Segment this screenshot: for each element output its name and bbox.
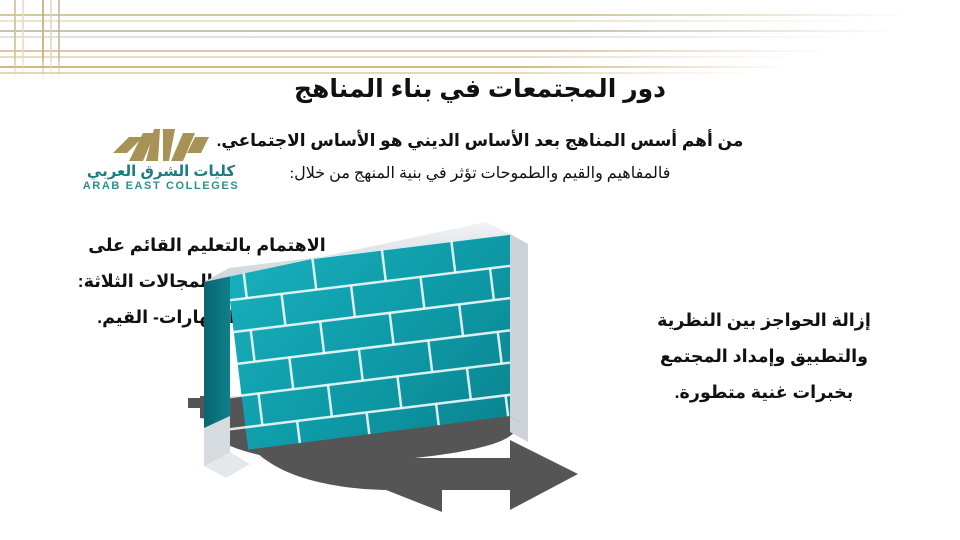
slide-canvas: دور المجتمعات في بناء المناهج من أهم أسس… xyxy=(0,0,960,540)
deco-vline-2 xyxy=(42,0,44,80)
deco-hline-4 xyxy=(0,50,830,52)
deco-hline-2 xyxy=(0,30,900,32)
deco-hline-0 xyxy=(0,14,912,16)
wall-and-arrow-graphic xyxy=(180,220,700,520)
deco-vline-3 xyxy=(50,0,52,80)
deco-hline-5 xyxy=(0,56,800,58)
logo-english-name: ARAB EAST COLLEGES xyxy=(78,180,244,192)
deco-vline-4 xyxy=(58,0,60,80)
deco-vline-1 xyxy=(22,0,24,80)
plaid-line-border xyxy=(0,0,960,80)
deco-vline-0 xyxy=(14,0,16,80)
deco-hline-1 xyxy=(0,20,880,22)
deco-hline-6 xyxy=(0,66,790,68)
logo-arabic-name: كليات الشرق العربي xyxy=(78,164,244,180)
wall-right-edge xyxy=(510,234,528,426)
logo: كليات الشرق العربي ARAB EAST COLLEGES xyxy=(78,127,244,205)
sunburst-fan-icon xyxy=(113,127,209,163)
page-title: دور المجتمعات في بناء المناهج xyxy=(0,74,960,104)
deco-hline-3 xyxy=(0,36,860,38)
